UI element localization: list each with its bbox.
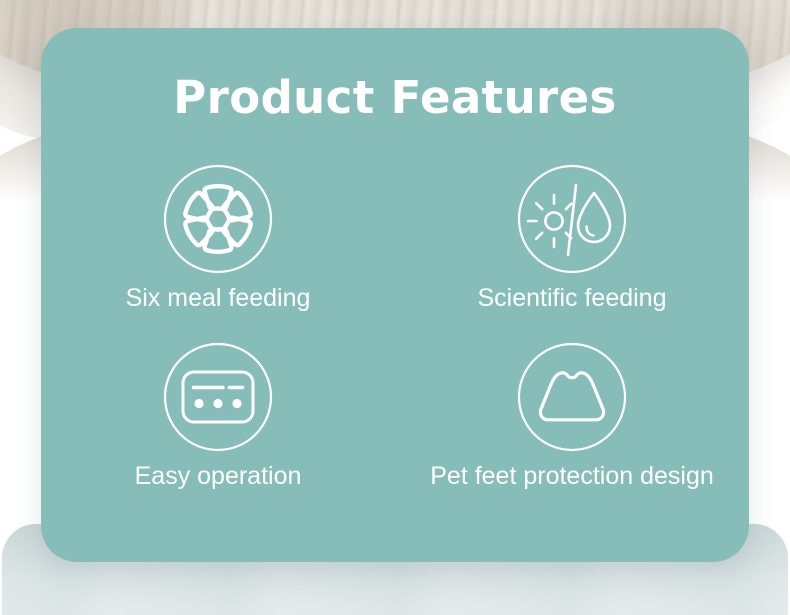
row-spacer — [41, 313, 749, 341]
feature-card: Product Features — [41, 28, 749, 562]
feature-item-scientific-feeding: Scientific feeding — [395, 163, 749, 313]
features-grid: Six meal feeding — [41, 163, 749, 490]
feature-label: Six meal feeding — [126, 285, 311, 313]
feature-label: Easy operation — [135, 463, 302, 491]
product-features-banner: Product Features — [0, 0, 790, 615]
six-compartment-tray-icon — [162, 163, 274, 275]
feature-label: Scientific feeding — [477, 285, 666, 313]
feature-label: Pet feet protection design — [430, 463, 714, 491]
paw-pad-icon — [516, 341, 628, 453]
sun-and-water-drop-icon — [516, 163, 628, 275]
feature-item-six-meal-feeding: Six meal feeding — [41, 163, 395, 313]
feature-item-easy-operation: Easy operation — [41, 341, 395, 491]
features-row-bottom: Easy operation Pet feet protection desig… — [41, 341, 749, 491]
control-panel-icon — [162, 341, 274, 453]
feature-item-pet-feet-protection: Pet feet protection design — [395, 341, 749, 491]
features-row-top: Six meal feeding — [41, 163, 749, 313]
page-title: Product Features — [41, 75, 749, 120]
